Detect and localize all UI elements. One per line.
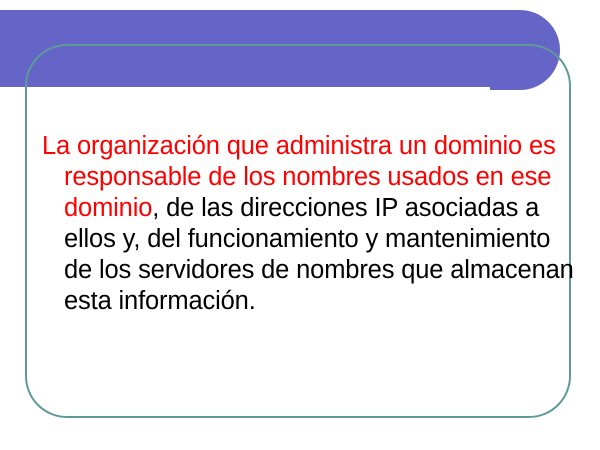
slide-body-paragraph: La organización que administra un domini… — [42, 131, 584, 317]
frame-corner-mask — [0, 90, 20, 96]
slide-canvas: La organización que administra un domini… — [0, 0, 600, 450]
